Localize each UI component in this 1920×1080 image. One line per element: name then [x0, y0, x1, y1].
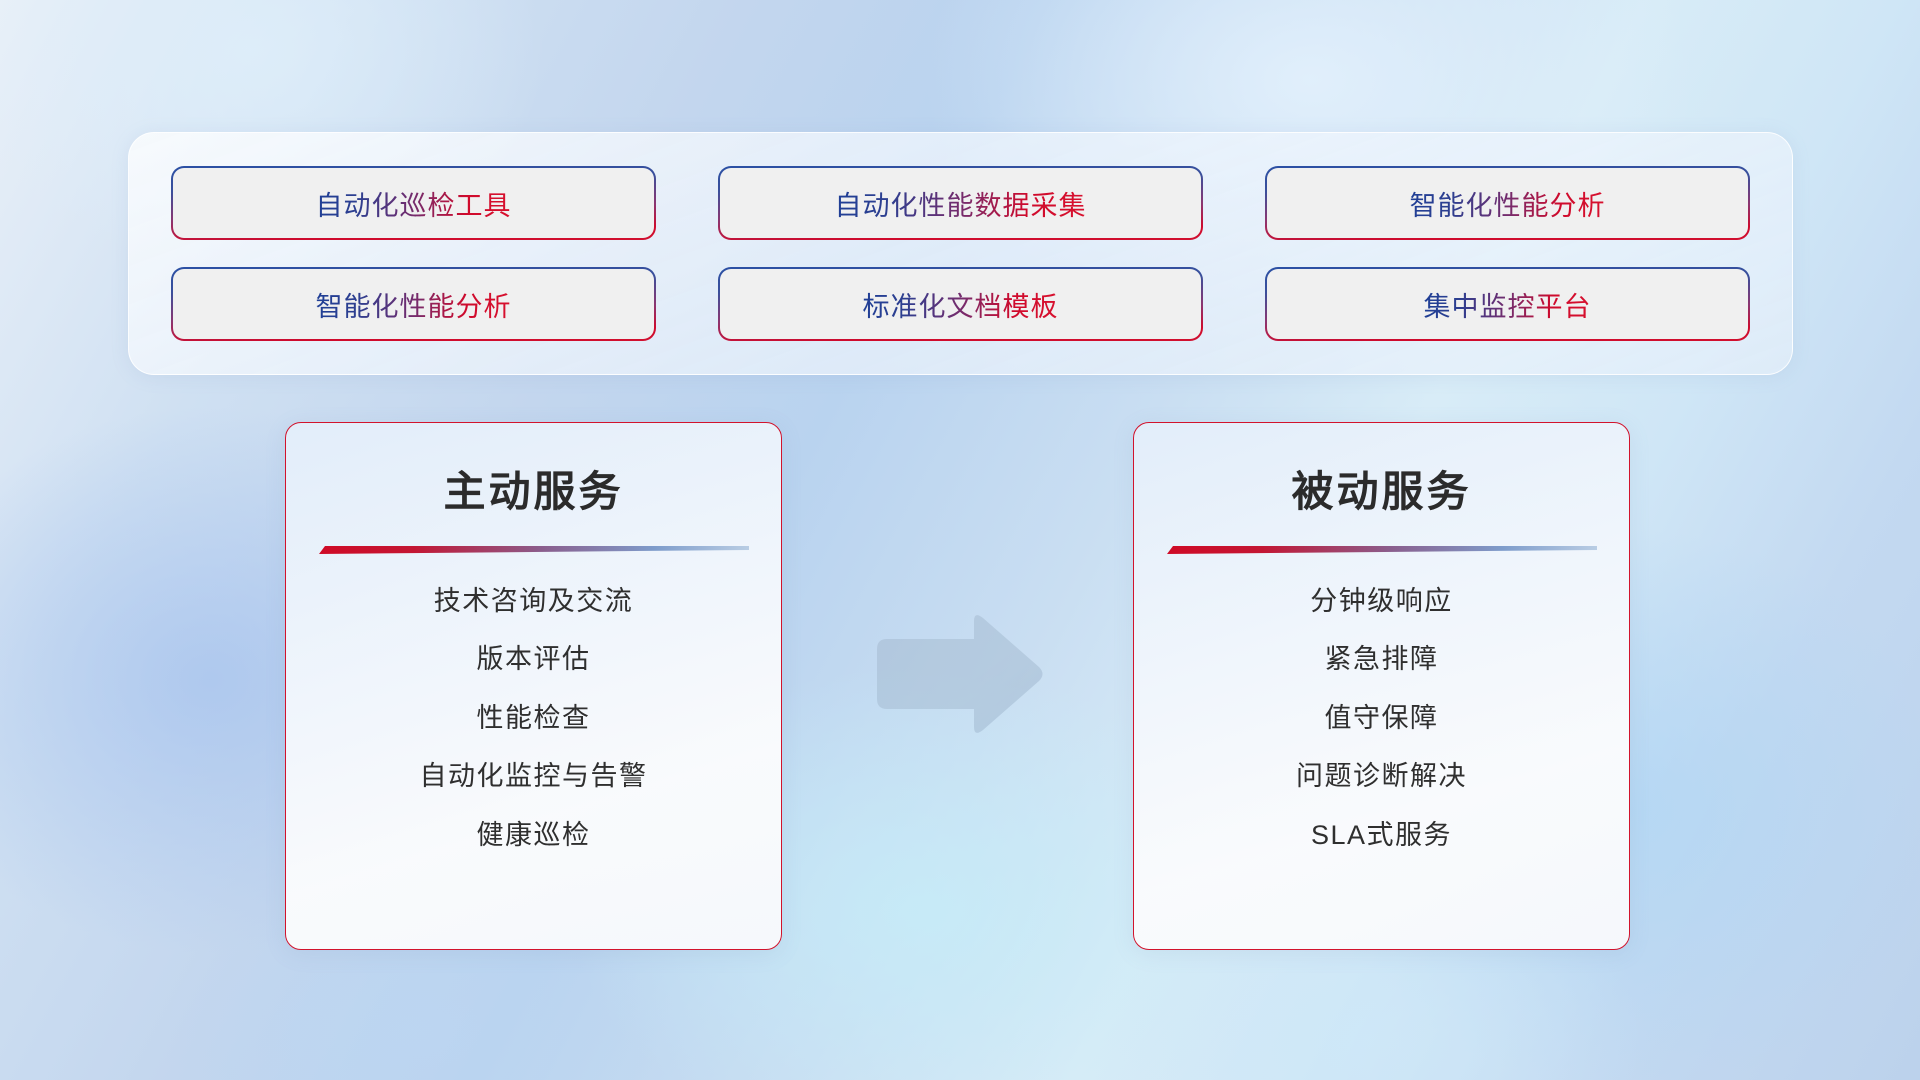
list-item: 技术咨询及交流 — [434, 585, 634, 617]
capability-pill-grid: 自动化巡检工具 自动化性能数据采集 智能化性能分析 智能化性能分析 标准化文档模… — [173, 161, 1748, 346]
card-title: 主动服务 — [443, 471, 623, 513]
service-item-list: 技术咨询及交流 版本评估 性能检查 自动化监控与告警 健康巡检 — [320, 585, 747, 851]
list-item: 值守保障 — [1325, 702, 1439, 734]
service-card-reactive: 被动服务 分钟级响应 紧急排障 值守保障 问题诊断解决 — [1133, 422, 1630, 950]
capability-pill-label: 集中监控平台 — [1424, 285, 1592, 324]
capability-panel: 自动化巡检工具 自动化性能数据采集 智能化性能分析 智能化性能分析 标准化文档模… — [128, 132, 1793, 375]
arrow-right-icon — [873, 613, 1045, 735]
title-divider — [1167, 545, 1597, 555]
capability-pill-centralized-monitoring-platform[interactable]: 集中监控平台 — [1267, 269, 1748, 339]
list-item: 性能检查 — [477, 702, 591, 734]
card-title: 被动服务 — [1291, 471, 1471, 513]
service-item-list: 分钟级响应 紧急排障 值守保障 问题诊断解决 SLA式服务 — [1168, 585, 1595, 851]
list-item: 自动化监控与告警 — [420, 760, 648, 792]
capability-pill-automated-inspection-tool[interactable]: 自动化巡检工具 — [173, 168, 654, 238]
slide-canvas: 自动化巡检工具 自动化性能数据采集 智能化性能分析 智能化性能分析 标准化文档模… — [0, 0, 1920, 1080]
list-item: 版本评估 — [477, 643, 591, 675]
capability-pill-label: 标准化文档模板 — [863, 285, 1059, 324]
capability-pill-label: 自动化性能数据采集 — [835, 184, 1087, 223]
capability-pill-automated-performance-data-collection[interactable]: 自动化性能数据采集 — [720, 168, 1201, 238]
capability-pill-intelligent-performance-analysis-bottom[interactable]: 智能化性能分析 — [173, 269, 654, 339]
title-divider — [319, 545, 749, 555]
capability-pill-label: 智能化性能分析 — [1410, 184, 1606, 223]
capability-pill-label: 自动化巡检工具 — [316, 184, 512, 223]
capability-pill-intelligent-performance-analysis-top[interactable]: 智能化性能分析 — [1267, 168, 1748, 238]
list-item: SLA式服务 — [1311, 819, 1452, 851]
list-item: 问题诊断解决 — [1296, 760, 1467, 792]
list-item: 健康巡检 — [477, 819, 591, 851]
capability-pill-standardized-document-template[interactable]: 标准化文档模板 — [720, 269, 1201, 339]
capability-pill-label: 智能化性能分析 — [316, 285, 512, 324]
list-item: 分钟级响应 — [1310, 585, 1453, 617]
list-item: 紧急排障 — [1325, 643, 1439, 675]
service-card-proactive: 主动服务 技术咨询及交流 版本评估 性能检查 自动化监控与告警 — [285, 422, 782, 950]
